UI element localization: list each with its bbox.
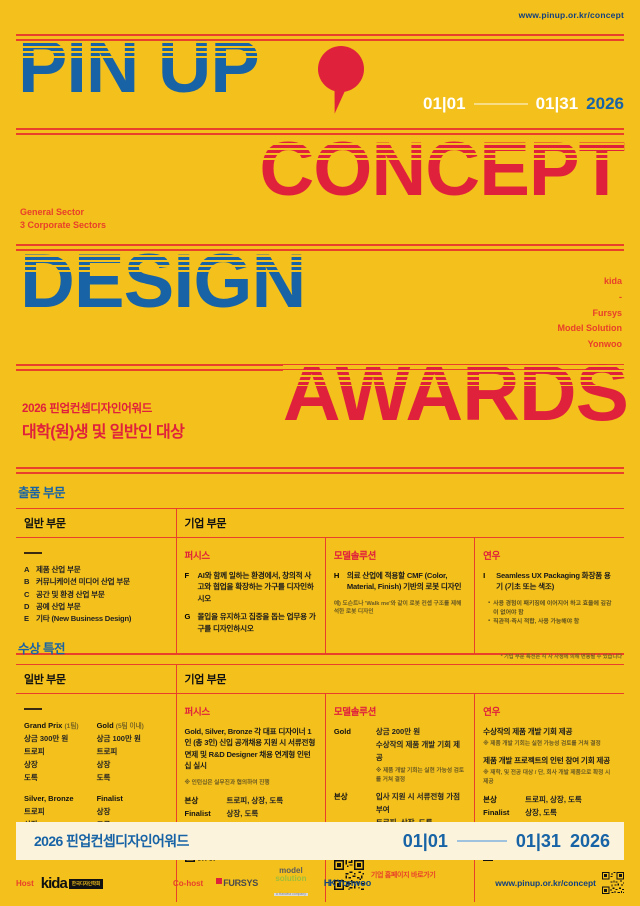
- modelsolution-line3: a Hanwha company: [274, 893, 308, 896]
- header-date-start: 01|01: [423, 94, 466, 114]
- bottom-banner: 2026 핀업컨셉디자인어워드 01|01 01|31 2026: [16, 822, 624, 860]
- prize-headline: Gold, Silver, Bronze 각 대표 디자이너 1인 (총 3인)…: [185, 726, 317, 772]
- prize-line: 상장: [24, 759, 79, 772]
- prize-line: 도록: [24, 772, 79, 785]
- item-text: Seamless UX Packaging 화장품 용기 (기초 또는 색조): [496, 570, 616, 593]
- prize-line: 도록: [97, 772, 144, 785]
- item-text: 제품 산업 부문: [36, 564, 81, 576]
- yonwoo-mark-icon: HK: [324, 878, 335, 888]
- prize-row-value: 트로피, 상장, 도록: [227, 795, 284, 808]
- entry-col-corporate-header: 기업 부문: [176, 509, 624, 538]
- prize-title: Finalist: [97, 794, 123, 803]
- list-item: A제품 산업 부문: [24, 564, 168, 576]
- wordmark-pinup-row: PIN UP 01|01 01|31 2026: [18, 42, 624, 120]
- list-item: D공예 산업 부문: [24, 601, 168, 613]
- brand-label: 연우: [483, 704, 616, 718]
- prize-headline2-text: 제품 개발 프로젝트의 인턴 참여 기회 제공: [483, 755, 610, 766]
- prize-line: 트로피: [24, 806, 79, 819]
- bottom-banner-date: 01|01 01|31 2026: [403, 831, 610, 852]
- korean-title-line2: 대학(원)생 및 일반인 대상: [22, 418, 184, 442]
- item-fine-print: 예) 도슨트나 'Walk me'와 같이 로봇 컨셉 구조를 제해석한 로봇 …: [334, 600, 466, 617]
- item-text: 의료 산업에 적용할 CMF (Color, Material, Finish)…: [347, 570, 466, 593]
- date-dash: [474, 103, 528, 105]
- bottom-date-end: 01|31: [516, 831, 561, 852]
- footer-url-link[interactable]: www.pinup.or.kr/concept: [495, 878, 596, 888]
- prize-row-key: 본상: [483, 794, 525, 807]
- entry-table-header: 일반 부문 기업 부문: [16, 509, 624, 538]
- yonwoo-logo-text: Yonwoo: [337, 878, 371, 888]
- fursys-logo-text: FURSYS: [223, 878, 258, 888]
- modelsolution-logo: model solution a Hanwha company: [274, 867, 308, 899]
- kida-logo-text: kida: [41, 875, 67, 892]
- prize-row-value: 상금 200만 원 수상작의 제품 개발 기회 제공: [376, 726, 466, 764]
- header-date-end: 01|31: [536, 94, 579, 114]
- prize-row: Finalist상장, 도록: [483, 807, 616, 820]
- footer-qr-code-icon[interactable]: [602, 872, 624, 894]
- prize-line: 트로피: [24, 746, 79, 759]
- prize-row-value: 상장, 도록: [525, 807, 557, 820]
- prize-col-corporate-header: 기업 부문: [176, 665, 624, 694]
- wordmark-awards: AWARDS: [283, 362, 628, 424]
- top-url-link[interactable]: www.pinup.or.kr/concept: [519, 10, 624, 20]
- pin-dot-icon: [318, 46, 364, 92]
- brand-label: 퍼시스: [185, 548, 317, 562]
- list-item: FAI와 함께 일하는 환경에서, 창의적 사고와 협업을 확장하는 가구를 디…: [185, 570, 317, 604]
- item-text: AI와 함께 일하는 환경에서, 창의적 사고와 협업을 확장하는 가구를 디자…: [198, 570, 317, 604]
- prize-headline-2: 제품 개발 프로젝트의 인턴 참여 기회 제공: [483, 755, 616, 766]
- bottom-year: 2026: [570, 831, 610, 852]
- item-text: 기타 (New Business Design): [36, 613, 131, 625]
- prize-col-general-header: 일반 부문: [16, 665, 176, 694]
- prize-row: 본상트로피, 상장, 도록: [185, 795, 317, 808]
- footer: Host kida한국디자인학회 Co-host FURSYS model so…: [16, 866, 624, 900]
- modelsolution-line2: solution: [274, 875, 308, 883]
- list-item: ISeamless UX Packaging 화장품 용기 (기초 또는 색조): [483, 570, 616, 593]
- item-key: H: [334, 570, 342, 593]
- prize-row-key: 본상: [185, 795, 227, 808]
- prize-row: Gold상금 200만 원 수상작의 제품 개발 기회 제공: [334, 726, 466, 764]
- prize-line: 상장: [97, 806, 144, 819]
- korean-title-line1: 2026 핀업컨셉디자인어워드: [22, 400, 184, 416]
- yonwoo-logo: HKYonwoo: [324, 878, 371, 888]
- partner-item: Model Solution: [558, 321, 623, 337]
- sector-note: General Sector 3 Corporate Sectors: [20, 206, 106, 232]
- entry-col-general-header: 일반 부문: [16, 509, 176, 538]
- prize-line: 상금 100만 원: [97, 733, 144, 746]
- item-key: F: [185, 570, 193, 604]
- prize-line: 상장: [97, 759, 144, 772]
- bottom-date-start: 01|01: [403, 831, 448, 852]
- fursys-logo: FURSYS: [216, 878, 258, 888]
- general-item-list: A제품 산업 부문 B커뮤니케이션 미디어 산업 부문 C공간 및 환경 산업 …: [24, 564, 168, 625]
- item-text: 몰입을 유지하고 집중을 돕는 업무용 가구를 디자인하시오: [198, 611, 317, 634]
- prize-qty: (1팀): [64, 723, 78, 730]
- wordmark-design-row: DESIGN kida - Fursys Model Solution Yonw…: [16, 248, 624, 358]
- header-year: 2026: [586, 94, 624, 114]
- prize-headline-text: Gold, Silver, Bronze 각 대표 디자이너 1인 (총 3인)…: [185, 726, 317, 772]
- bullet-list: 사용 경험이 패키징에 이어지어 하고 효율에 깊감이 없어야 함 직관적·즉시…: [483, 600, 616, 627]
- wordmark-concept: CONCEPT: [259, 140, 624, 199]
- prize-headline-text: 수상작의 제품 개발 기회 제공: [483, 726, 572, 737]
- item-text: 공예 산업 부문: [36, 601, 81, 613]
- prize-row-key: Gold: [334, 726, 376, 764]
- brand-label: 모델솔루션: [334, 548, 466, 562]
- item-text: 커뮤니케이션 미디어 산업 부문: [36, 576, 130, 588]
- korean-title: 2026 핀업컨셉디자인어워드 대학(원)생 및 일반인 대상: [22, 400, 184, 442]
- prize-name: Silver, Bronze: [24, 793, 79, 806]
- item-key: A: [24, 564, 31, 576]
- header-date-range: 01|01 01|31 2026: [423, 94, 624, 114]
- fursys-mark-icon: [216, 878, 222, 884]
- sector-note-line2: 3 Corporate Sectors: [20, 219, 106, 232]
- prize-name: Gold (5팀 이내): [97, 720, 144, 733]
- wordmark-design: DESIGN: [20, 252, 305, 311]
- item-key: G: [185, 611, 193, 634]
- bullet-item: 사용 경험이 패키징에 이어지어 하고 효율에 깊감이 없어야 함: [488, 600, 616, 618]
- partner-separator: -: [558, 290, 623, 306]
- prize-row-value: 상장, 도록: [227, 808, 259, 821]
- wordmark-pinup: PIN UP: [18, 38, 259, 96]
- dash-marker: [24, 708, 42, 710]
- item-key: E: [24, 613, 31, 625]
- prize-line: 트로피: [97, 746, 144, 759]
- prize-title: Gold: [97, 721, 114, 730]
- brand-label: 연우: [483, 548, 616, 562]
- prize-section: 수상 특전 * 기업 부문 특전은 각 사 사정에 의해 변동될 수 있습니다 …: [16, 632, 624, 902]
- prize-section-note: * 기업 부문 특전은 각 사 사정에 의해 변동될 수 있습니다: [501, 653, 622, 660]
- prize-fine-print: ※ 재학, 및 전공 대상 / 단, 회사 개발 제품으로 확정 시 제공: [483, 769, 616, 786]
- host-label: Host: [16, 879, 34, 888]
- prize-name: Finalist: [97, 793, 144, 806]
- entry-section: 출품 부문 일반 부문 기업 부문 A제품 산업 부문 B커뮤니케이션 미디어 …: [16, 476, 624, 655]
- partner-item: Fursys: [558, 306, 623, 322]
- list-item: G몰입을 유지하고 집중을 돕는 업무용 가구를 디자인하시오: [185, 611, 317, 634]
- prize-table-header: 일반 부문 기업 부문: [16, 665, 624, 694]
- list-item: B커뮤니케이션 미디어 산업 부문: [24, 576, 168, 588]
- prize-name: Grand Prix (1팀): [24, 720, 79, 733]
- prize-row: Finalist상장, 도록: [185, 808, 317, 821]
- item-key: C: [24, 589, 31, 601]
- prize-row-value: 트로피, 상장, 도록: [525, 794, 582, 807]
- prize-line: 상금 300만 원: [24, 733, 79, 746]
- prize-title: Grand Prix: [24, 721, 62, 730]
- partner-item: kida: [558, 274, 623, 290]
- wordmark-awards-row: AWARDS 2026 핀업컨셉디자인어워드 대학(원)생 및 일반인 대상: [16, 368, 624, 468]
- item-key: B: [24, 576, 31, 588]
- prize-title: Silver, Bronze: [24, 794, 74, 803]
- kida-logo-sub: 한국디자인학회: [69, 879, 103, 889]
- bottom-date-dash: [457, 840, 507, 842]
- entry-section-title: 출품 부문: [16, 476, 624, 508]
- prize-fine-print: ※ 제품 개발 기회는 실현 가능성 검토를 거쳐 결정: [483, 740, 616, 749]
- prize-qty: (5팀 이내): [116, 723, 144, 730]
- bottom-banner-title: 2026 핀업컨셉디자인어워드: [34, 831, 189, 851]
- prize-fine-print: ※ 제품 개발 기회는 실현 가능성 검토를 거쳐 결정: [334, 767, 466, 784]
- prize-headline: 수상작의 제품 개발 기회 제공: [483, 726, 616, 737]
- wordmark-concept-row: CONCEPT General Sector 3 Corporate Secto…: [16, 140, 624, 250]
- brand-label: 퍼시스: [185, 704, 317, 718]
- prize-row: 본상트로피, 상장, 도록: [483, 794, 616, 807]
- kida-logo: kida한국디자인학회: [41, 875, 103, 892]
- partner-list: kida - Fursys Model Solution Yonwoo: [558, 274, 623, 353]
- sector-note-line1: General Sector: [20, 206, 106, 219]
- divider-above-entry: [16, 467, 624, 474]
- cohost-label: Co-host: [173, 879, 203, 888]
- list-item: H의료 산업에 적용할 CMF (Color, Material, Finish…: [334, 570, 466, 593]
- prize-fine-print: ※ 인턴십은 실무진과 협의하여 진행: [185, 779, 317, 788]
- prize-row-key: Finalist: [185, 808, 227, 821]
- item-text: 공간 및 환경 산업 부문: [36, 589, 105, 601]
- poster-root: www.pinup.or.kr/concept PIN UP 01|01 01|…: [0, 0, 640, 906]
- list-item: E기타 (New Business Design): [24, 613, 168, 625]
- dash-marker: [24, 552, 42, 554]
- list-item: C공간 및 환경 산업 부문: [24, 589, 168, 601]
- bullet-item: 직관적·즉시 적합, 사용 가능해야 함: [488, 618, 616, 627]
- item-key: D: [24, 601, 31, 613]
- item-key: I: [483, 570, 491, 593]
- prize-row-key: Finalist: [483, 807, 525, 820]
- brand-label: 모델솔루션: [334, 704, 466, 718]
